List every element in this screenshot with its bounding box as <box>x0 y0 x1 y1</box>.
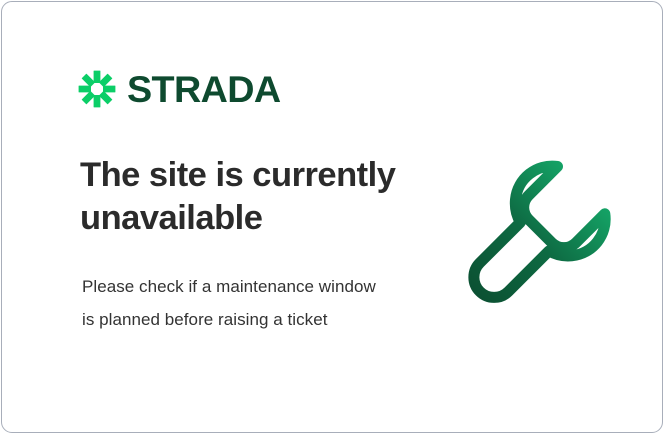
asterisk-starburst-icon <box>78 70 116 108</box>
page-description: Please check if a maintenance window is … <box>82 270 387 336</box>
wrench-icon <box>454 152 616 318</box>
maintenance-page: STRADA The site is currently unavailable… <box>0 0 666 436</box>
brand-wordmark: STRADA <box>127 71 281 108</box>
brand-logo: STRADA <box>78 70 278 108</box>
status-card: STRADA The site is currently unavailable… <box>1 1 663 433</box>
page-title: The site is currently unavailable <box>80 154 410 240</box>
